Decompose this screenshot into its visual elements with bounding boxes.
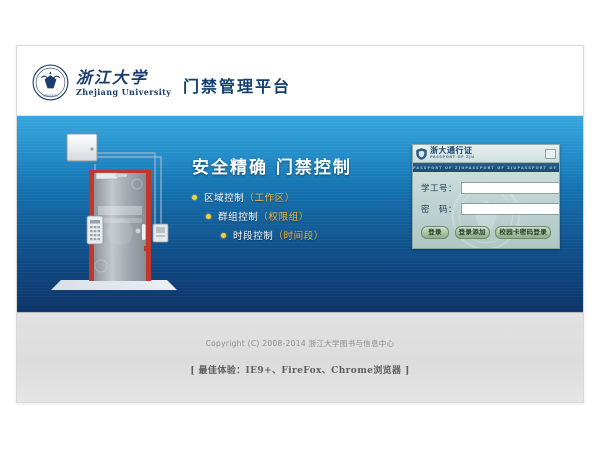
window-control-icon[interactable] [545, 149, 556, 159]
login-title-en: PASSPORT OF ZJU [430, 156, 475, 160]
login-panel: 浙大通行证 PASSPORT OF ZJU PASSPORT OF ZJU PA… [412, 144, 560, 249]
passport-strip-text: PASSPORT OF ZJU [517, 166, 559, 170]
svg-text:ZHEJIANG: ZHEJIANG [43, 94, 58, 98]
username-label: 学工号： [421, 182, 461, 194]
feature-sublabel: （权限组） [258, 209, 309, 223]
site-footer: Copyright (C) 2008-2014 浙江大学图书与信息中心 [ 最佳… [17, 312, 583, 403]
access-control-door-illustration [49, 128, 189, 308]
login-title-cn: 浙大通行证 [430, 147, 475, 155]
password-label: 密 码： [421, 203, 461, 215]
zju-seal-icon: ZHEJIANG [32, 64, 69, 101]
university-logo-block[interactable]: ZHEJIANG 浙江大学 Zhejiang University [32, 64, 171, 101]
page-title: 门禁管理平台 [183, 73, 291, 97]
bullet-dot-icon [192, 195, 197, 200]
login-form: 学工号： 密 码： 登录 登录添加 校园卡密码登录 [413, 172, 559, 248]
banner-headline: 安全精确 门禁控制 [192, 153, 352, 178]
login-button-row: 登录 登录添加 校园卡密码登录 [421, 226, 551, 239]
passport-strip-text: PASSPORT OF ZJU [465, 166, 517, 170]
login-add-button[interactable]: 登录添加 [455, 226, 490, 239]
feature-label: 群组控制 [218, 209, 258, 223]
footer-browser-note: [ 最佳体验：IE9+、FireFox、Chrome浏览器 ] [17, 349, 583, 376]
feature-label: 时段控制 [233, 228, 273, 242]
feature-sublabel: （工作区） [244, 190, 295, 204]
bullet-dot-icon [221, 233, 226, 238]
login-button[interactable]: 登录 [421, 226, 449, 239]
university-name-cn: 浙江大学 [76, 70, 171, 86]
username-input[interactable] [461, 182, 560, 194]
feature-item-group-control: 群组控制 （权限组） [192, 209, 324, 223]
passport-strip-text: PASSPORT OF ZJU [413, 166, 465, 170]
shield-icon [416, 148, 427, 160]
hero-banner: 安全精确 门禁控制 区域控制 （工作区） 群组控制 （权限组） 时段控制 （时间… [17, 116, 583, 312]
feature-item-time-control: 时段控制 （时间段） [192, 228, 324, 242]
passport-marquee-strip: PASSPORT OF ZJU PASSPORT OF ZJU PASSPORT… [413, 163, 559, 172]
bullet-dot-icon [206, 214, 211, 219]
feature-label: 区域控制 [204, 190, 244, 204]
login-panel-title: 浙大通行证 PASSPORT OF ZJU [430, 147, 475, 160]
university-name-en: Zhejiang University [76, 88, 171, 96]
password-field-row: 密 码： [421, 203, 551, 215]
password-input[interactable] [461, 203, 560, 215]
page-frame: ZHEJIANG 浙江大学 Zhejiang University 门禁管理平台 [16, 45, 584, 403]
card-password-login-button[interactable]: 校园卡密码登录 [495, 226, 551, 239]
site-header: ZHEJIANG 浙江大学 Zhejiang University 门禁管理平台 [17, 46, 583, 116]
username-field-row: 学工号： [421, 182, 551, 194]
feature-item-area-control: 区域控制 （工作区） [192, 190, 324, 204]
feature-sublabel: （时间段） [273, 228, 324, 242]
university-name: 浙江大学 Zhejiang University [76, 70, 171, 96]
login-panel-titlebar: 浙大通行证 PASSPORT OF ZJU [413, 145, 559, 163]
footer-copyright: Copyright (C) 2008-2014 浙江大学图书与信息中心 [17, 313, 583, 349]
feature-list: 区域控制 （工作区） 群组控制 （权限组） 时段控制 （时间段） [192, 190, 324, 247]
